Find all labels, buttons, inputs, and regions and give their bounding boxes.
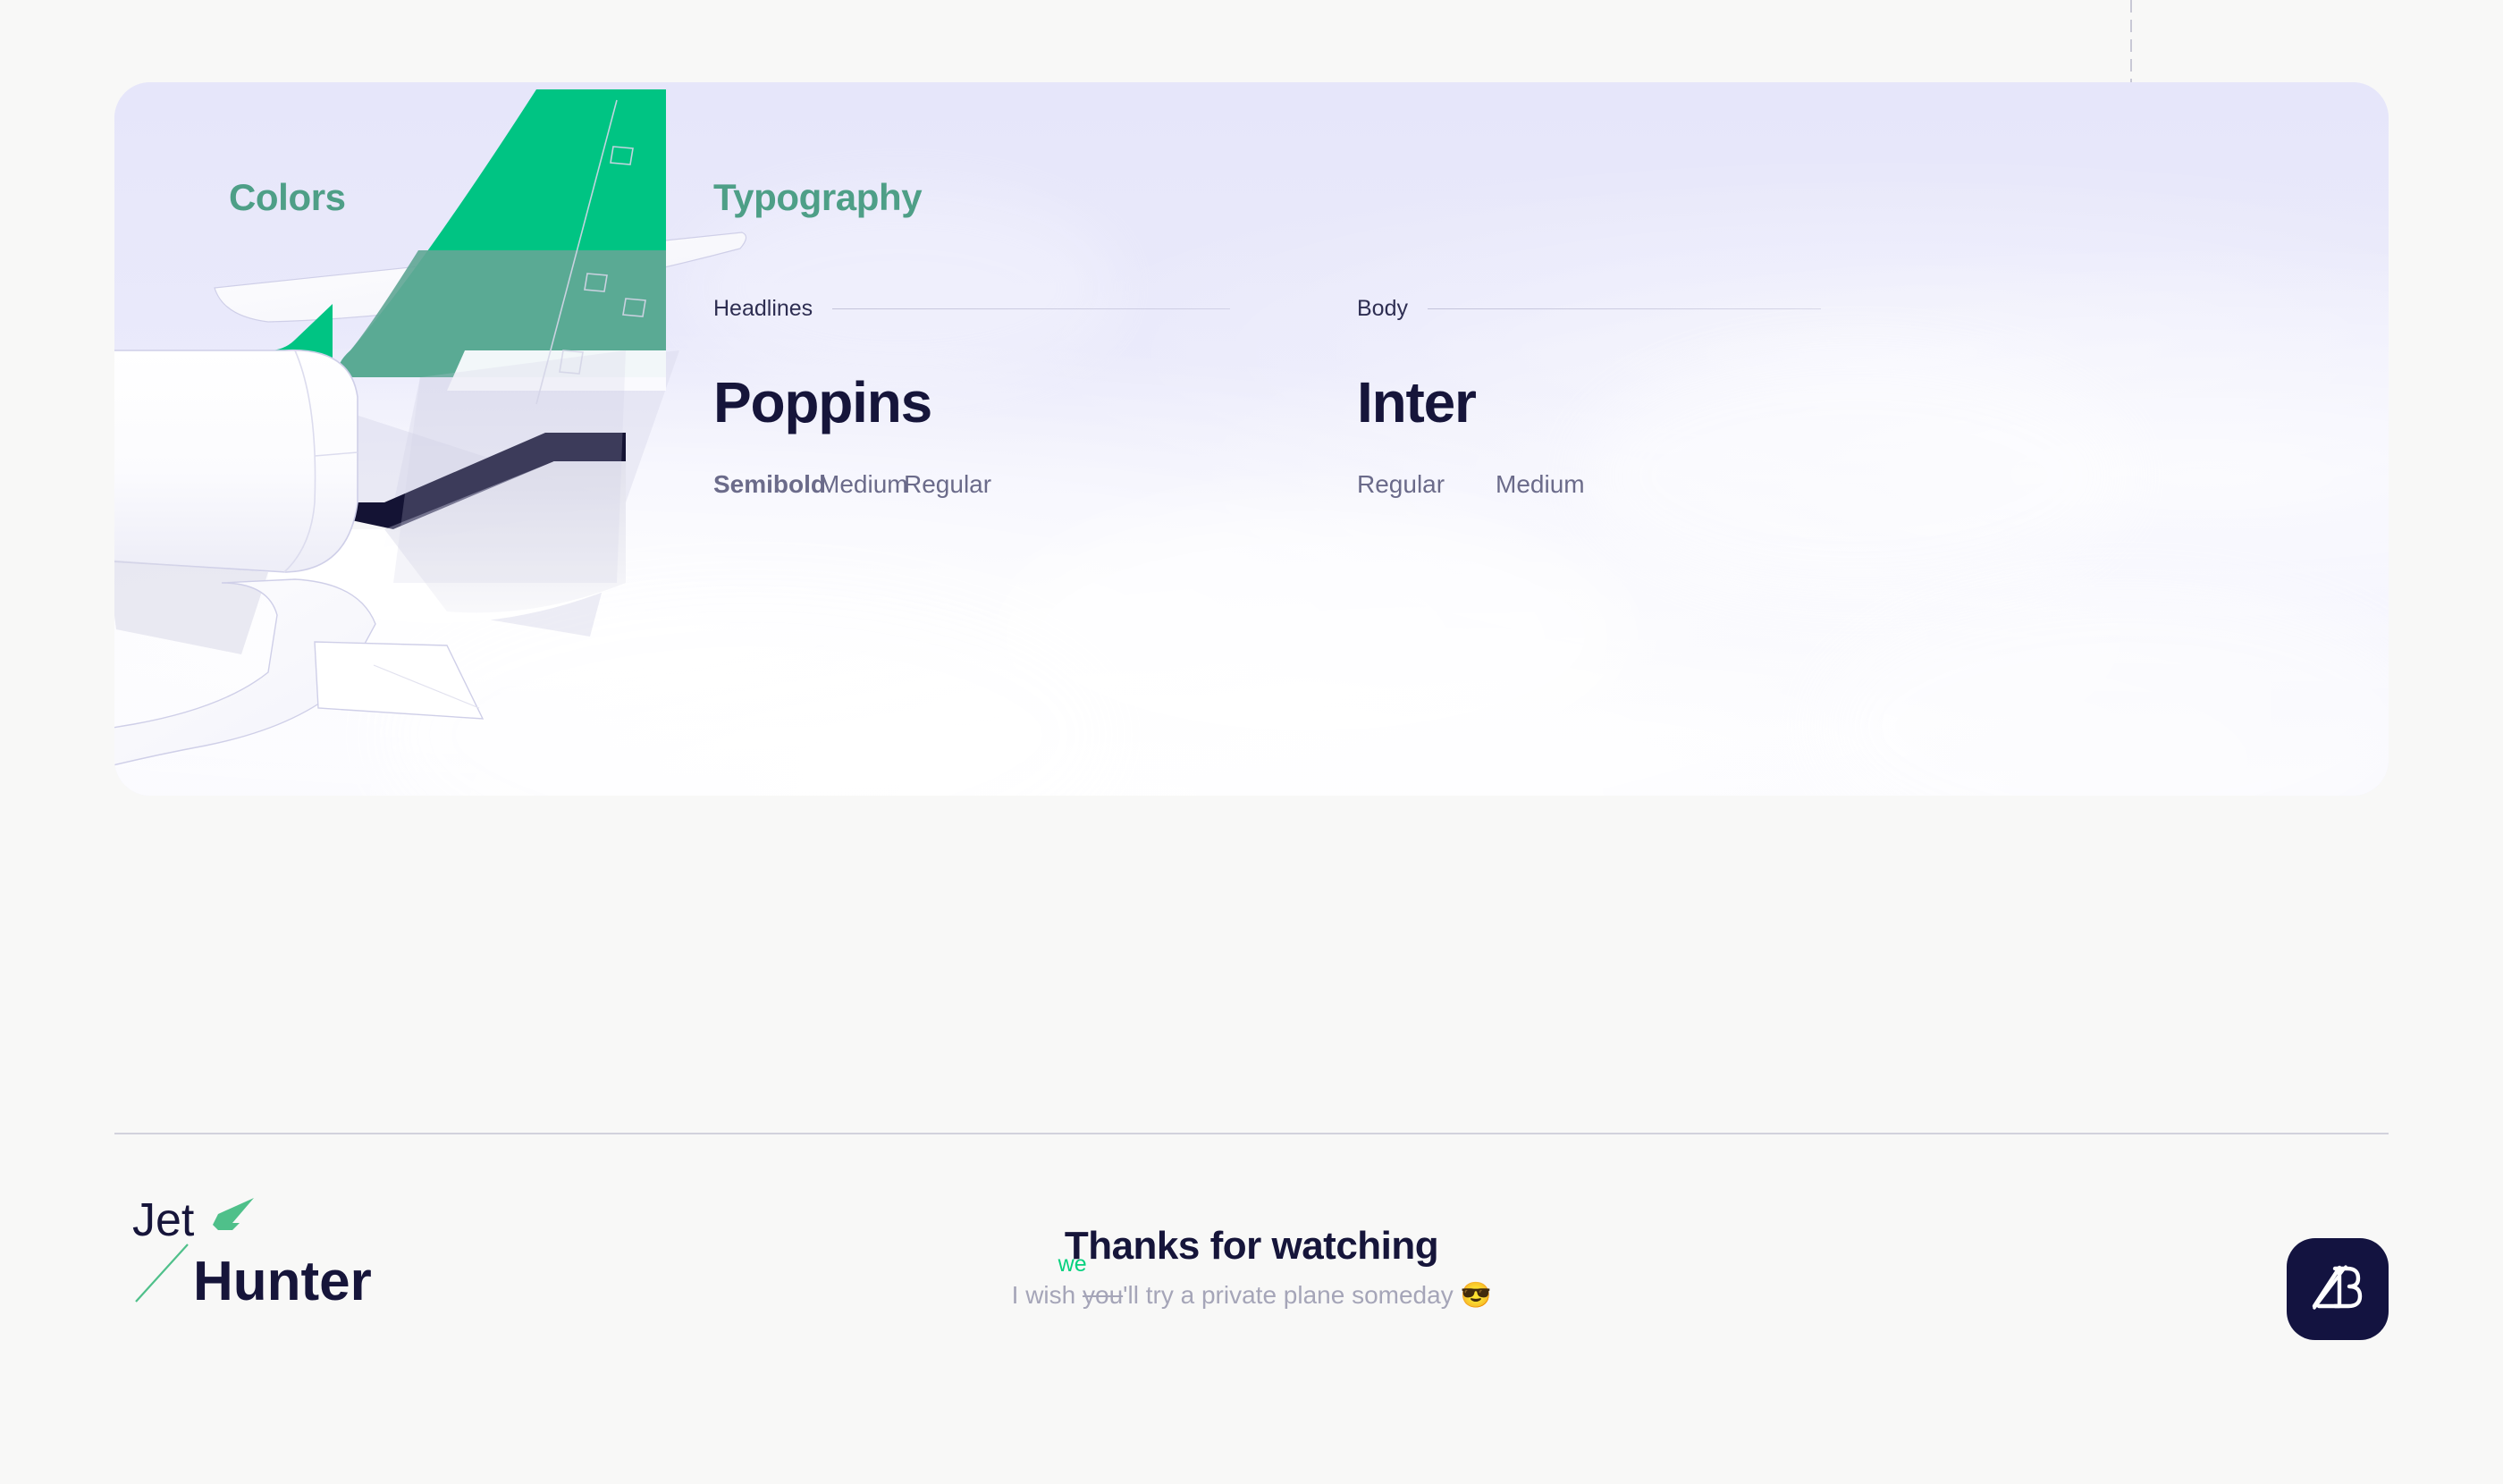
subtitle-wrapper: we I wish you'll try a private plane som… [1012,1280,1492,1311]
colors-section-title: Colors [229,176,346,219]
headlines-weights: Semibold Medium Regular [713,470,1357,499]
body-label: Body [1357,296,1408,322]
body-label-row: Body [1357,295,1947,322]
logo-word-jet: Jet [132,1194,195,1246]
headlines-rule [832,308,1230,309]
guide-line-top [2130,0,2132,82]
brand-badge[interactable] [2287,1238,2389,1340]
headlines-font-name: Poppins [713,374,1357,431]
typography-column-body: Body Inter Regular Medium [1357,295,1947,499]
footer-divider [114,1133,2389,1134]
we-annotation: we [1058,1252,1087,1277]
subtitle-after: 'll try a private plane someday 😎 [1123,1281,1491,1309]
subtitle-before: I wish [1012,1281,1083,1309]
typography-content: Headlines Poppins Semibold Medium Regula… [713,295,2197,499]
body-rule [1428,308,1821,309]
body-weight-regular: Regular [1357,470,1496,499]
typography-section-title: Typography [713,176,922,219]
headlines-label: Headlines [713,296,813,322]
plane-icon [213,1198,254,1230]
ab-monogram-icon [2310,1261,2365,1317]
headlines-weight-regular: Regular [904,470,991,499]
jethunter-logo[interactable]: Jet Hunter [132,1194,508,1311]
body-weights: Regular Medium [1357,470,1947,499]
body-weight-medium: Medium [1496,470,1585,499]
page-root: Colors Typography Headlines Poppins Semi… [0,0,2503,1484]
showcase-card: Colors Typography Headlines Poppins Semi… [114,82,2389,796]
subtitle-struck: you [1083,1281,1123,1309]
typography-column-headlines: Headlines Poppins Semibold Medium Regula… [713,295,1357,499]
headlines-label-row: Headlines [713,295,1357,322]
subtitle-line: I wish you'll try a private plane someda… [1012,1281,1492,1309]
body-font-name: Inter [1357,374,1947,431]
logo-word-hunter: Hunter [193,1251,372,1311]
